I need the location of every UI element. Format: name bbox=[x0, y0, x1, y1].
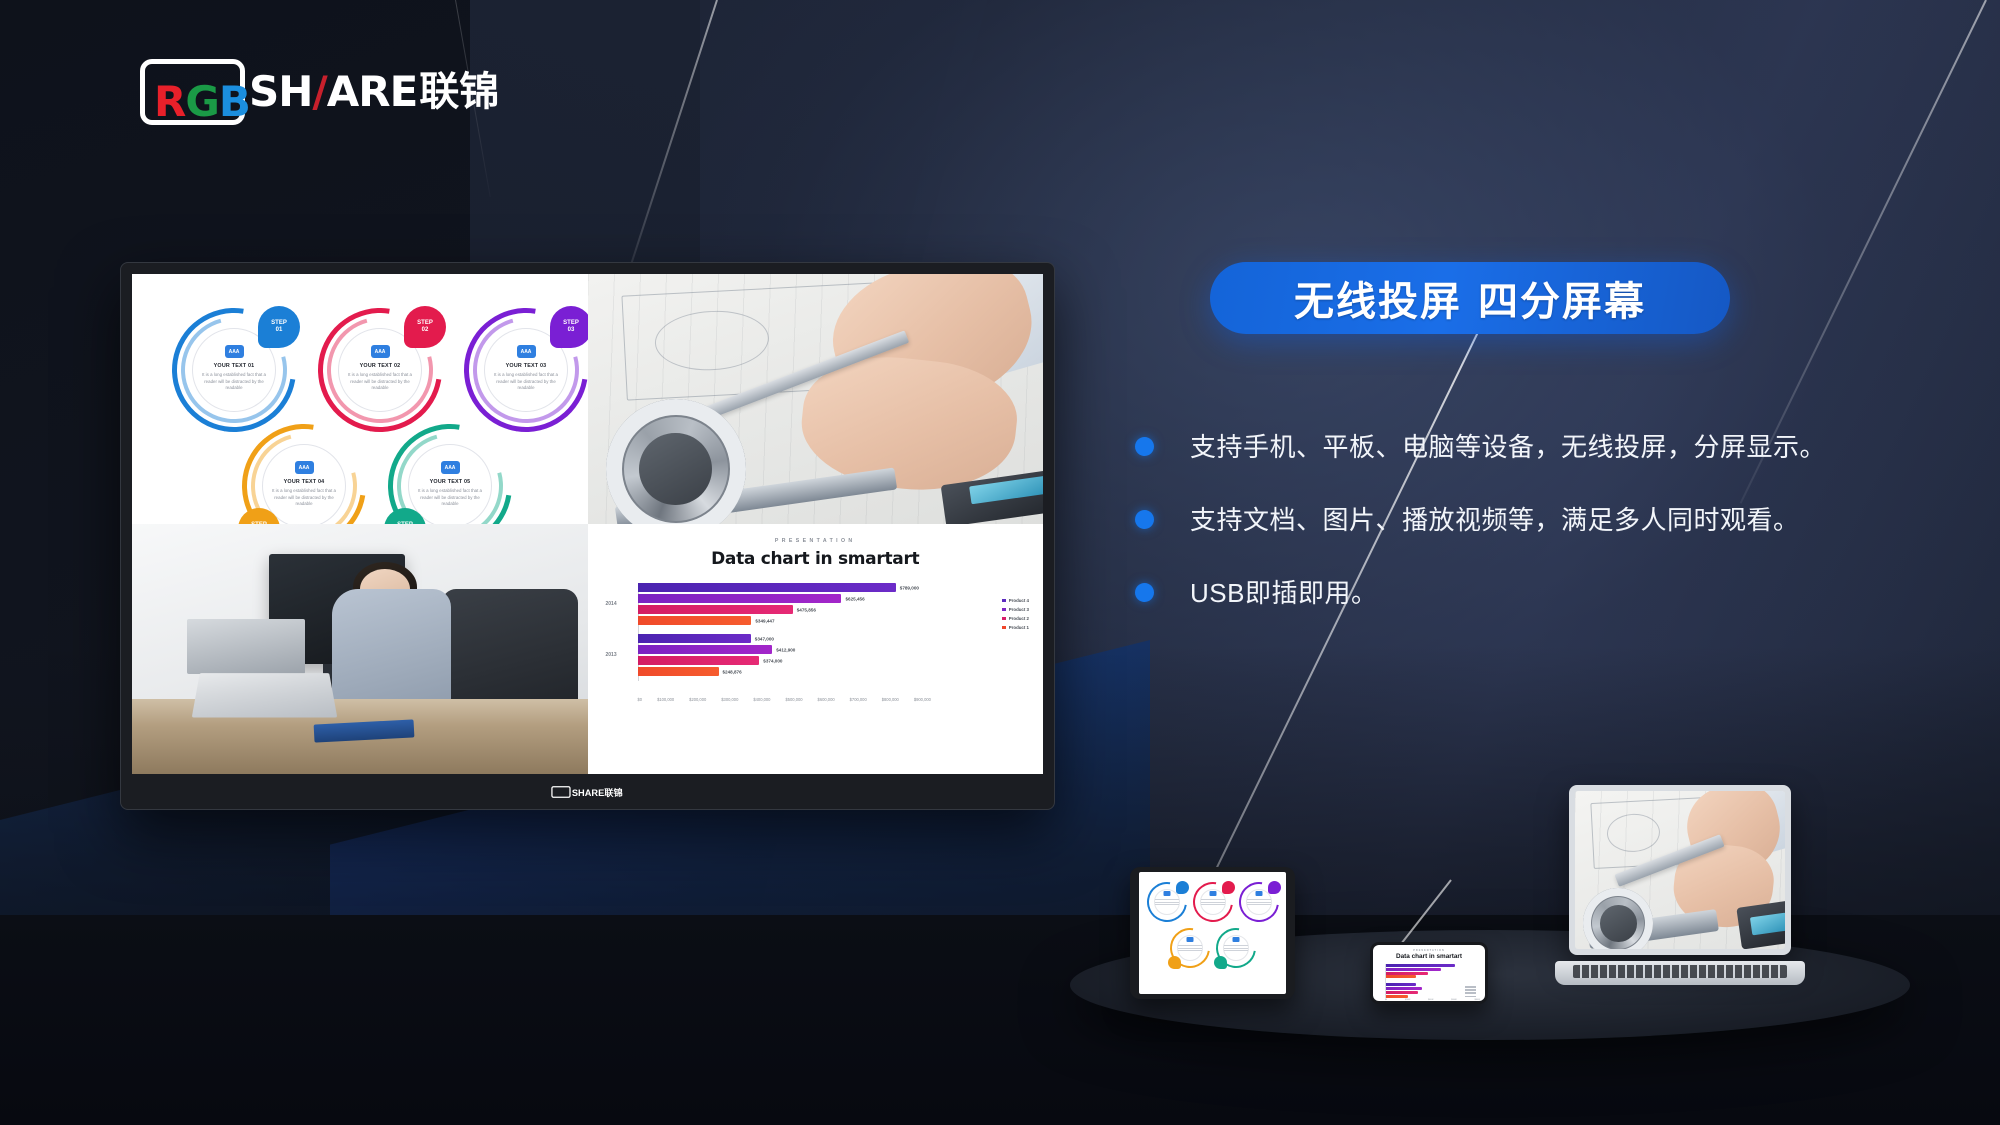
bullet-text: 支持文档、图片、播放视频等，满足多人同时观看。 bbox=[1190, 503, 1800, 538]
office-laptop-lid bbox=[187, 619, 305, 674]
phone-device[interactable]: PRESENTATION Data chart in smartart $0$2… bbox=[1370, 942, 1488, 1004]
chart-xtick: $200,000 bbox=[689, 697, 706, 702]
chart-kicker: PRESENTATION bbox=[604, 538, 1028, 544]
chart-xtick: $100,000 bbox=[657, 697, 674, 702]
tablet-step-5 bbox=[1216, 928, 1256, 968]
legend-label: Product 4 bbox=[1009, 598, 1029, 603]
step-badge-label: STEP bbox=[563, 320, 579, 328]
poster-stage: RGB SH/ARE 联锦 AAA YOUR TEXT 01 It is a l… bbox=[0, 0, 2000, 1125]
step-title: YOUR TEXT 01 bbox=[214, 363, 255, 369]
chart-bar: $374,000 bbox=[638, 656, 760, 665]
chart-legend: Product 4 Product 3 Product 2 Product 1 bbox=[1002, 598, 1029, 630]
tablet-step-4 bbox=[1170, 928, 1210, 968]
chart-xtick: $900,000 bbox=[914, 697, 931, 702]
chart-category-label: 2013 bbox=[606, 652, 617, 658]
step-title: YOUR TEXT 05 bbox=[430, 479, 471, 485]
bullet-dot-icon bbox=[1135, 510, 1154, 529]
laptop-lid bbox=[1569, 785, 1791, 955]
step-desc: It is a long established fact that a rea… bbox=[197, 372, 271, 392]
phone-chart-kicker: PRESENTATION bbox=[1378, 949, 1480, 952]
chart-bar-value: $475,856 bbox=[797, 607, 816, 612]
step-row-top: AAA YOUR TEXT 01 It is a long establishe… bbox=[172, 308, 588, 432]
quadrant-office-photo[interactable] bbox=[132, 524, 588, 774]
phone-chart-bar bbox=[1385, 995, 1408, 998]
office-laptop bbox=[192, 673, 337, 717]
logo-letter-r: R bbox=[154, 77, 185, 126]
brand-logo: RGB SH/ARE 联锦 bbox=[140, 58, 499, 126]
step-desc: It is a long established fact that a rea… bbox=[413, 488, 487, 508]
step-badge-label: STEP bbox=[271, 320, 287, 328]
phone-chart-title: Data chart in smartart bbox=[1378, 953, 1480, 960]
tablet-step-2 bbox=[1193, 882, 1233, 922]
phone-chart-bar bbox=[1385, 964, 1455, 967]
legend-item: Product 2 bbox=[1002, 616, 1029, 621]
phone-chart-bar bbox=[1385, 968, 1441, 971]
tablet-steps-slide bbox=[1139, 872, 1286, 994]
chart-bar: $412,900 bbox=[638, 645, 773, 654]
step-desc: It is a long established fact that a rea… bbox=[489, 372, 563, 392]
chart-group-2014: 2014 $789,000 $625,456 $475,856 $349,447 bbox=[638, 583, 932, 625]
step-badge-1: STEP 01 bbox=[258, 306, 300, 348]
quadrant-drafting-photo[interactable] bbox=[588, 274, 1044, 524]
logo-slash-accent: / bbox=[312, 67, 326, 116]
phone-chart-xaxis: $0$200K$400K$600K$800K bbox=[1385, 999, 1480, 1001]
step-badge-3: STEP 03 bbox=[550, 306, 588, 348]
step-desc: It is a long established fact that a rea… bbox=[267, 488, 341, 508]
logo-share-part2: ARE bbox=[327, 67, 418, 116]
legend-item: Product 3 bbox=[1002, 607, 1029, 612]
phone-chart-bar bbox=[1385, 983, 1416, 986]
step-title: YOUR TEXT 04 bbox=[284, 479, 325, 485]
ball-bearing bbox=[606, 399, 746, 524]
chart-bar-value: $625,456 bbox=[845, 596, 864, 601]
monitor-chin-logo: SHARE联锦 bbox=[120, 774, 1055, 810]
logo-frame-icon: RGB bbox=[140, 59, 245, 125]
laptop-keyboard[interactable] bbox=[1573, 965, 1787, 978]
chart-bar: $625,456 bbox=[638, 594, 842, 603]
phone-screen[interactable]: PRESENTATION Data chart in smartart $0$2… bbox=[1373, 945, 1485, 1001]
bullet-dot-icon bbox=[1135, 583, 1154, 602]
logo-chinese-text: 联锦 bbox=[419, 72, 499, 112]
logo-rgb-text: RGB bbox=[154, 81, 250, 123]
chart-bar: $349,447 bbox=[638, 616, 752, 625]
step-badge-number: 02 bbox=[422, 327, 429, 335]
chart-bar-value: $248,876 bbox=[723, 669, 742, 674]
chart-bar: $347,000 bbox=[638, 634, 751, 643]
laptop-device[interactable] bbox=[1555, 785, 1805, 985]
bullet-text: 支持手机、平板、电脑等设备，无线投屏，分屏显示。 bbox=[1190, 430, 1826, 465]
chart-xtick: $400,000 bbox=[753, 697, 770, 702]
bullet-item: 支持文档、图片、播放视频等，满足多人同时观看。 bbox=[1135, 503, 1935, 538]
phone-chart-plot bbox=[1378, 964, 1480, 998]
legend-label: Product 2 bbox=[1009, 616, 1029, 621]
logo-share-text: SH/ARE bbox=[249, 71, 417, 113]
chin-brand-text: SHARE联锦 bbox=[572, 785, 623, 798]
chart-bar-value: $349,447 bbox=[755, 618, 774, 623]
laptop-screen[interactable] bbox=[1575, 791, 1785, 949]
chart-title: Data chart in smartart bbox=[604, 549, 1028, 569]
chart-xtick: $0 bbox=[638, 697, 643, 702]
chart-bar-value: $347,000 bbox=[755, 636, 774, 641]
tablet-step-1 bbox=[1147, 882, 1187, 922]
logo-letter-b: B bbox=[219, 77, 250, 126]
chart-bar: $789,000 bbox=[638, 583, 896, 592]
tablet-screen[interactable] bbox=[1139, 872, 1286, 994]
chart-xtick: $700,000 bbox=[850, 697, 867, 702]
chart-bar: $248,876 bbox=[638, 667, 719, 676]
legend-label: Product 3 bbox=[1009, 607, 1029, 612]
legend-item: Product 4 bbox=[1002, 598, 1029, 603]
step-badge-2: STEP 02 bbox=[404, 306, 446, 348]
tablet-step-row-bottom bbox=[1145, 928, 1280, 968]
tablet-step-3 bbox=[1239, 882, 1279, 922]
chart-bar: $475,856 bbox=[638, 605, 793, 614]
step-circle-4[interactable]: AAA YOUR TEXT 04 It is a long establishe… bbox=[242, 424, 366, 524]
chart-xtick: $600,000 bbox=[818, 697, 835, 702]
phone-chart-bar bbox=[1385, 975, 1416, 978]
chart-xtick: $300,000 bbox=[721, 697, 738, 702]
step-desc: It is a long established fact that a rea… bbox=[343, 372, 417, 392]
bullet-dot-icon bbox=[1135, 437, 1154, 456]
headline-text: 无线投屏 四分屏幕 bbox=[1294, 269, 1646, 327]
tablet-device[interactable] bbox=[1130, 867, 1295, 999]
chart-xtick: $500,000 bbox=[785, 697, 802, 702]
chart-bar-value: $789,000 bbox=[900, 585, 919, 590]
legend-label: Product 1 bbox=[1009, 625, 1029, 630]
phone-chart-bar bbox=[1385, 987, 1422, 990]
phone-chart-legend bbox=[1465, 986, 1476, 999]
quadrant-data-chart[interactable]: PRESENTATION Data chart in smartart 2014… bbox=[588, 524, 1044, 774]
chart-group-2013: 2013 $347,000 $412,900 $374,000 $248,876 bbox=[638, 634, 932, 676]
monitor-screen[interactable]: AAA YOUR TEXT 01 It is a long establishe… bbox=[132, 274, 1043, 774]
bullet-text: USB即插即用。 bbox=[1190, 576, 1377, 611]
bullet-item: USB即插即用。 bbox=[1135, 576, 1935, 611]
step-badge-label: STEP bbox=[417, 320, 433, 328]
chart-plot-area: 2014 $789,000 $625,456 $475,856 $349,447… bbox=[604, 583, 1028, 695]
step-title: YOUR TEXT 03 bbox=[506, 363, 547, 369]
step-badge-number: 03 bbox=[568, 327, 575, 335]
chart-xtick: $800,000 bbox=[882, 697, 899, 702]
step-circle-5[interactable]: AAA YOUR TEXT 05 It is a long establishe… bbox=[388, 424, 512, 524]
phone-chart-bar bbox=[1385, 991, 1418, 994]
bullet-item: 支持手机、平板、电脑等设备，无线投屏，分屏显示。 bbox=[1135, 430, 1935, 465]
phone-chart-bar bbox=[1385, 972, 1428, 975]
step-circle-2[interactable]: AAA YOUR TEXT 02 It is a long establishe… bbox=[318, 308, 442, 432]
step-row-bottom: AAA YOUR TEXT 04 It is a long establishe… bbox=[242, 424, 512, 524]
feature-bullet-list: 支持手机、平板、电脑等设备，无线投屏，分屏显示。 支持文档、图片、播放视频等，满… bbox=[1135, 430, 1935, 649]
headline-banner: 无线投屏 四分屏幕 bbox=[1210, 262, 1730, 334]
chart-category-label: 2014 bbox=[606, 601, 617, 607]
step-circle-1[interactable]: AAA YOUR TEXT 01 It is a long establishe… bbox=[172, 308, 296, 432]
logo-share-part1: SH bbox=[249, 67, 312, 116]
legend-item: Product 1 bbox=[1002, 625, 1029, 630]
monitor-device: AAA YOUR TEXT 01 It is a long establishe… bbox=[120, 262, 1055, 810]
chart-bar-value: $412,900 bbox=[776, 647, 795, 652]
logo-letter-g: G bbox=[185, 77, 218, 126]
tablet-step-row-top bbox=[1145, 882, 1280, 922]
chart-x-axis-ticks: $0 $100,000 $200,000 $300,000 $400,000 $… bbox=[638, 697, 932, 702]
chart-bar-value: $374,000 bbox=[763, 658, 782, 663]
quadrant-circle-steps[interactable]: AAA YOUR TEXT 01 It is a long establishe… bbox=[132, 274, 588, 524]
step-circle-3[interactable]: AAA YOUR TEXT 03 It is a long establishe… bbox=[464, 308, 588, 432]
step-badge-number: 01 bbox=[276, 327, 283, 335]
step-title: YOUR TEXT 02 bbox=[360, 363, 401, 369]
